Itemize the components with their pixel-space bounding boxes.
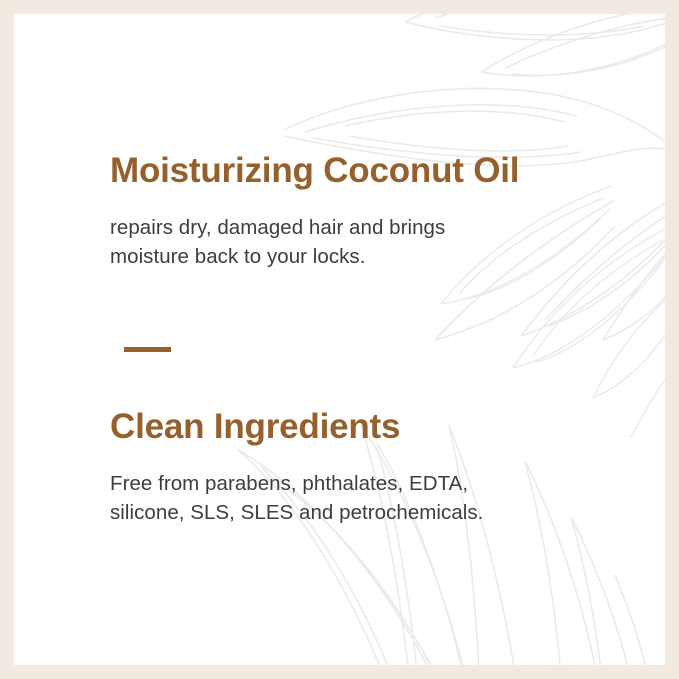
body-line: silicone, SLS, SLES and petrochemicals. bbox=[110, 498, 610, 527]
feature-section-moisturizing-coconut-oil: Moisturizing Coconut Oil repairs dry, da… bbox=[110, 150, 610, 272]
section-divider-rule bbox=[124, 347, 171, 352]
body-line: Free from parabens, phthalates, EDTA, bbox=[110, 469, 610, 498]
card-inner-surface: Moisturizing Coconut Oil repairs dry, da… bbox=[14, 14, 665, 665]
body-clean-ingredients: Free from parabens, phthalates, EDTA, si… bbox=[110, 469, 610, 527]
heading-clean-ingredients: Clean Ingredients bbox=[110, 406, 610, 447]
heading-moisturizing-coconut-oil: Moisturizing Coconut Oil bbox=[110, 150, 610, 191]
body-moisturizing-coconut-oil: repairs dry, damaged hair and brings moi… bbox=[110, 213, 610, 271]
body-line: moisture back to your locks. bbox=[110, 242, 610, 271]
feature-section-clean-ingredients: Clean Ingredients Free from parabens, ph… bbox=[110, 406, 610, 528]
product-feature-card: Moisturizing Coconut Oil repairs dry, da… bbox=[0, 0, 679, 679]
body-line: repairs dry, damaged hair and brings bbox=[110, 213, 610, 242]
